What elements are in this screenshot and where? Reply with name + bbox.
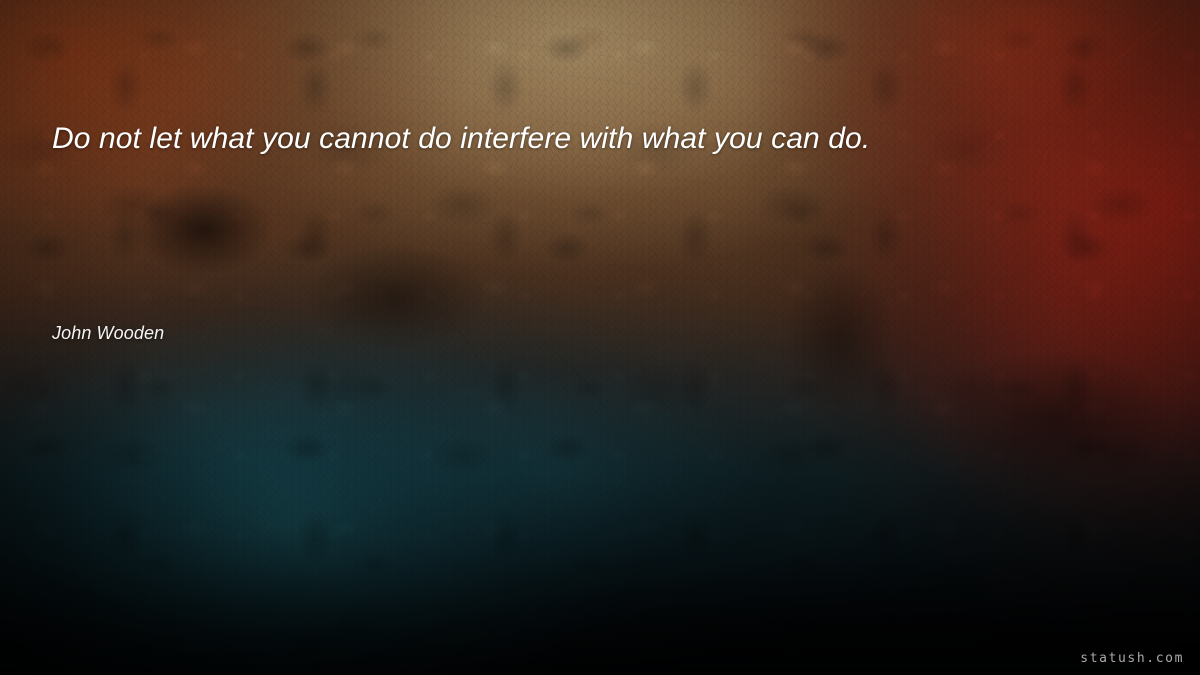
quote-author: John Wooden xyxy=(52,322,164,345)
site-watermark: statush.com xyxy=(1080,652,1184,665)
quote-image-canvas: Do not let what you cannot do interfere … xyxy=(0,0,1200,675)
content-layer: Do not let what you cannot do interfere … xyxy=(0,0,1200,675)
quote-text: Do not let what you cannot do interfere … xyxy=(52,120,1152,158)
